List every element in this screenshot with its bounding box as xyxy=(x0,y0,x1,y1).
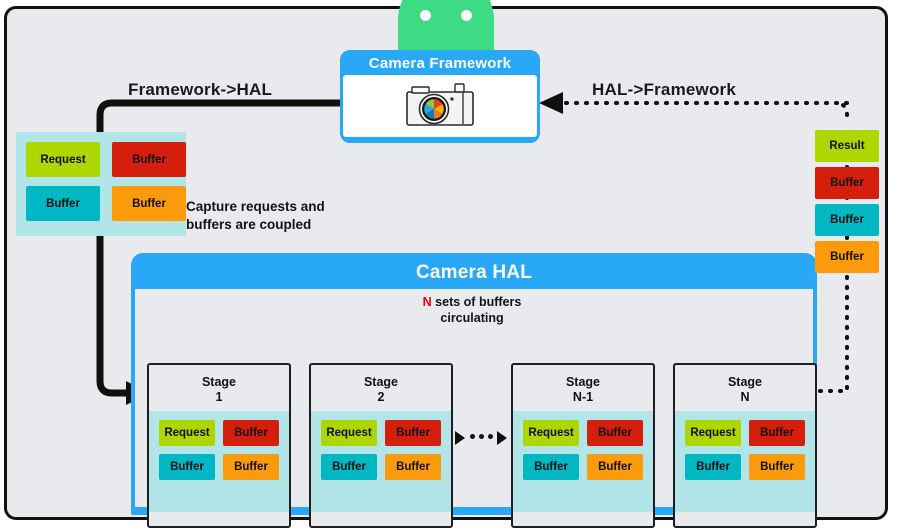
android-eye-right-icon xyxy=(461,10,472,21)
stage-title-line1: Stage xyxy=(513,375,653,390)
arrow-right-icon xyxy=(497,431,507,445)
stage-title: Stage N xyxy=(675,365,815,411)
label-hal-to-framework: HAL->Framework xyxy=(592,80,736,100)
chip-result: Result xyxy=(815,130,879,162)
stage-title: Stage N-1 xyxy=(513,365,653,411)
stage-title-line2: 2 xyxy=(311,390,451,405)
chip-buffer: Buffer xyxy=(223,454,279,480)
stage-buffer-band: Request Buffer Buffer Buffer xyxy=(149,411,289,512)
chip-buffer: Buffer xyxy=(26,186,100,221)
result-buffer-column: Result Buffer Buffer Buffer xyxy=(815,130,879,278)
coupled-note-line2: buffers are coupled xyxy=(186,216,396,234)
chip-request: Request xyxy=(26,142,100,177)
chip-buffer: Buffer xyxy=(112,142,186,177)
stage-title-line2: 1 xyxy=(149,390,289,405)
chip-buffer: Buffer xyxy=(587,454,643,480)
chip-buffer: Buffer xyxy=(112,186,186,221)
circulating-note: N sets of buffers circulating xyxy=(372,294,572,326)
stage-box-n: Stage N Request Buffer Buffer Buffer xyxy=(673,363,817,528)
stage-buffer-band: Request Buffer Buffer Buffer xyxy=(675,411,815,512)
stage-box-1: Stage 1 Request Buffer Buffer Buffer xyxy=(147,363,291,528)
camera-hal-title: Camera HAL xyxy=(135,257,813,289)
camera-icon xyxy=(403,81,477,131)
camera-hal-box: Camera HAL Stage 1 Request Buffer Buffer… xyxy=(131,253,817,515)
ellipsis-icon xyxy=(470,434,493,439)
stage-title-line1: Stage xyxy=(675,375,815,390)
coupled-request-buffer-group: Request Buffer Buffer Buffer xyxy=(16,132,186,236)
chip-buffer: Buffer xyxy=(587,420,643,446)
chip-buffer: Buffer xyxy=(749,420,805,446)
chip-request: Request xyxy=(321,420,377,446)
stage-title: Stage 1 xyxy=(149,365,289,411)
chip-buffer: Buffer xyxy=(223,420,279,446)
arrow-right-icon xyxy=(455,431,465,445)
coupled-note-line1: Capture requests and xyxy=(186,198,396,216)
stage-buffer-band: Request Buffer Buffer Buffer xyxy=(311,411,451,512)
diagram-canvas: Camera Framework xyxy=(0,0,900,531)
camera-framework-title: Camera Framework xyxy=(343,53,537,75)
label-framework-to-hal: Framework->HAL xyxy=(128,80,272,100)
circulating-note-line1: N sets of buffers xyxy=(372,294,572,310)
chip-buffer: Buffer xyxy=(159,454,215,480)
circulating-note-line2: circulating xyxy=(372,310,572,326)
circulating-rest: sets of buffers xyxy=(432,295,522,309)
chip-buffer: Buffer xyxy=(815,241,879,273)
chip-buffer: Buffer xyxy=(685,454,741,480)
stage-box-n-minus-1: Stage N-1 Request Buffer Buffer Buffer xyxy=(511,363,655,528)
android-eye-left-icon xyxy=(420,10,431,21)
camera-framework-box: Camera Framework xyxy=(340,50,540,143)
chip-request: Request xyxy=(685,420,741,446)
chip-buffer: Buffer xyxy=(749,454,805,480)
stage-title: Stage 2 xyxy=(311,365,451,411)
stage-row: Stage 1 Request Buffer Buffer Buffer Sta… xyxy=(147,363,817,528)
chip-request: Request xyxy=(523,420,579,446)
camera-framework-body xyxy=(343,75,537,137)
stage-box-2: Stage 2 Request Buffer Buffer Buffer xyxy=(309,363,453,528)
chip-request: Request xyxy=(159,420,215,446)
stage-title-line2: N-1 xyxy=(513,390,653,405)
chip-buffer: Buffer xyxy=(385,420,441,446)
chip-buffer: Buffer xyxy=(523,454,579,480)
stage-buffer-band: Request Buffer Buffer Buffer xyxy=(513,411,653,512)
stage-title-line1: Stage xyxy=(149,375,289,390)
stage-title-line2: N xyxy=(675,390,815,405)
chip-buffer: Buffer xyxy=(321,454,377,480)
chip-buffer: Buffer xyxy=(815,167,879,199)
coupled-note: Capture requests and buffers are coupled xyxy=(186,198,396,234)
stage-title-line1: Stage xyxy=(311,375,451,390)
chip-buffer: Buffer xyxy=(385,454,441,480)
chip-buffer: Buffer xyxy=(815,204,879,236)
circulating-highlight: N xyxy=(423,295,432,309)
